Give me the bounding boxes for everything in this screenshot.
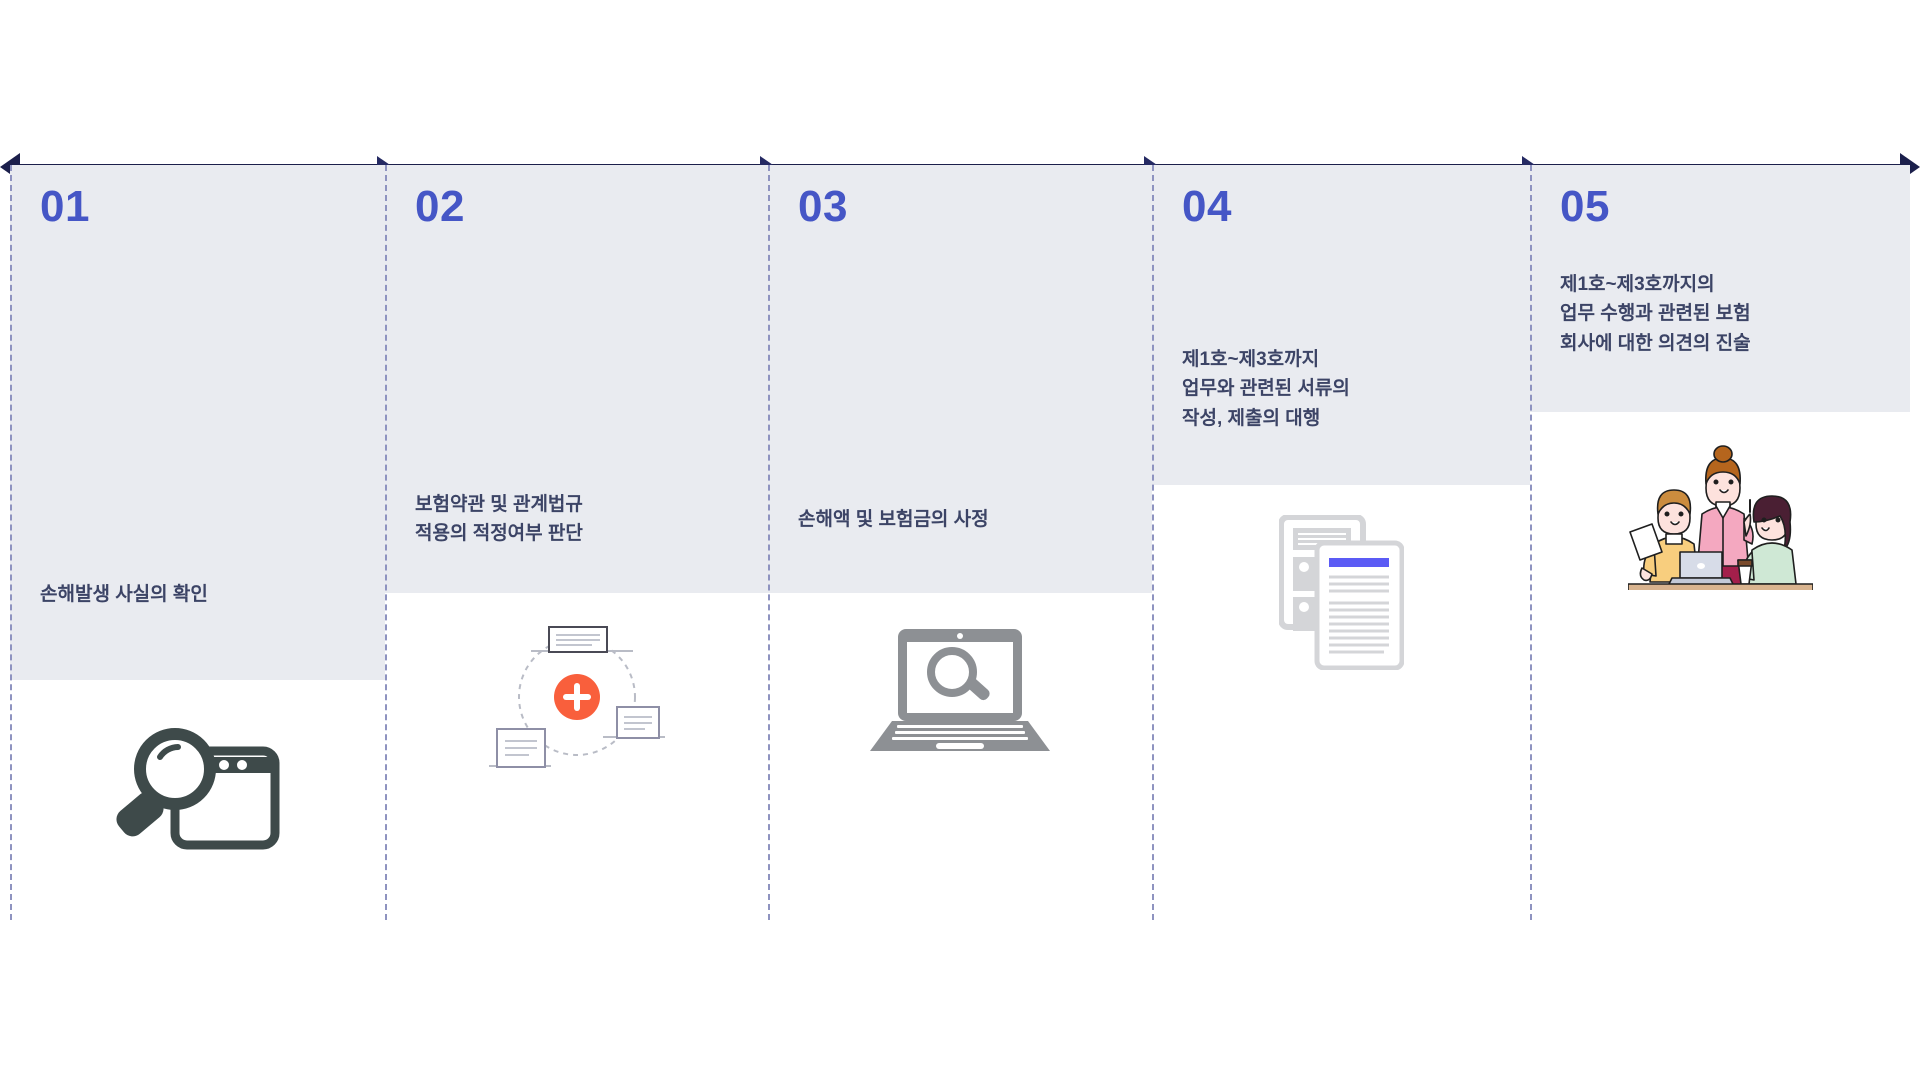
step-caption: 제1호~제3호까지 업무와 관련된 서류의 작성, 제출의 대행: [1182, 345, 1350, 433]
timeline-step-04[interactable]: 04 제1호~제3호까지 업무와 관련된 서류의 작성, 제출의 대행: [1152, 165, 1530, 920]
timeline-step-03[interactable]: 03 손해액 및 보험금의 사정: [768, 165, 1152, 920]
step-caption: 보험약관 및 관계법규 적용의 적정여부 판단: [415, 490, 583, 549]
step-number: 01: [40, 185, 90, 229]
column-divider: [768, 165, 770, 920]
timeline-step-01[interactable]: 01 손해발생 사실의 확인: [10, 165, 385, 920]
step-caption: 손해액 및 보험금의 사정: [798, 505, 989, 534]
stacked-documents-icon: [1279, 515, 1404, 670]
column-divider: [385, 165, 387, 920]
step-caption: 제1호~제3호까지의 업무 수행과 관련된 보험 회사에 대한 의견의 진술: [1560, 270, 1751, 358]
step-icon-container: [10, 725, 385, 855]
documents-circle-plus-icon: [487, 625, 667, 770]
timeline-step-02[interactable]: 02 보험약관 및 관계법규 적용의 적정여부 판단: [385, 165, 768, 920]
step-icon-container: [1152, 515, 1530, 670]
team-meeting-illustration: [1628, 440, 1813, 590]
timeline-diagram: 01 손해발생 사실의 확인 02 보험약관 및 관계법규 적용의 적정여부 판…: [0, 0, 1920, 1080]
step-number: 05: [1560, 185, 1610, 229]
timeline-step-05[interactable]: 05 제1호~제3호까지의 업무 수행과 관련된 보험 회사에 대한 의견의 진…: [1530, 165, 1910, 920]
laptop-search-icon: [870, 625, 1050, 755]
step-icon-container: [1530, 440, 1910, 590]
magnifier-browser-icon: [113, 725, 283, 855]
step-number: 02: [415, 185, 465, 229]
step-icon-container: [768, 625, 1152, 755]
step-caption: 손해발생 사실의 확인: [40, 580, 208, 609]
step-icon-container: [385, 625, 768, 770]
step-number: 04: [1182, 185, 1232, 229]
step-number: 03: [798, 185, 848, 229]
